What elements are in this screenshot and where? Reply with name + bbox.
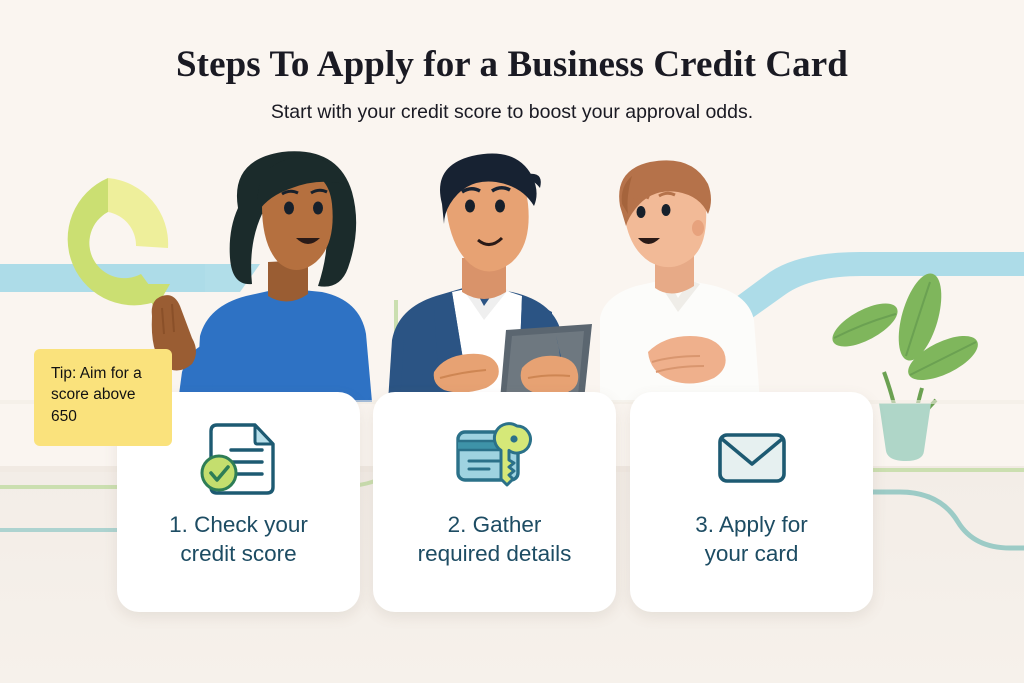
person-man-with-tablet: [388, 154, 592, 403]
hand: [648, 336, 726, 384]
ribbon-right-blue: [640, 252, 1024, 398]
plant-leaf: [890, 269, 949, 365]
hand-left: [434, 354, 499, 393]
infographic-canvas: Steps To Apply for a Business Credit Car…: [0, 0, 1024, 683]
envelope-icon: [706, 417, 798, 499]
hair: [619, 160, 711, 226]
credit-card-key-icon: [449, 417, 541, 499]
tip-callout-text: Tip: Aim for a score above 650: [51, 363, 160, 427]
step-card-3[interactable]: 3. Apply for your card: [630, 392, 873, 612]
plant-leaf: [826, 295, 904, 355]
step-card-2-label: 2. Gather required details: [390, 511, 600, 569]
person-woman-waving: [152, 151, 372, 402]
plant-leaf: [902, 327, 984, 389]
tip-callout: Tip: Aim for a score above 650: [34, 349, 172, 446]
tablet-device: [500, 324, 592, 400]
person-man-gesturing: [600, 160, 760, 402]
step-card-1-label: 1. Check your credit score: [134, 511, 344, 569]
header: Steps To Apply for a Business Credit Car…: [0, 44, 1024, 124]
donut-gauge-chart: [68, 178, 170, 310]
hair: [440, 154, 537, 225]
page-title: Steps To Apply for a Business Credit Car…: [0, 44, 1024, 87]
document-check-icon: [193, 417, 285, 499]
page-subtitle: Start with your credit score to boost yo…: [0, 101, 1024, 124]
step-card-3-label: 3. Apply for your card: [647, 511, 857, 569]
ribbon-left-blue: [0, 264, 260, 292]
step-card-2[interactable]: 2. Gather required details: [373, 392, 616, 612]
hand-right: [521, 356, 579, 395]
hair: [230, 151, 356, 286]
